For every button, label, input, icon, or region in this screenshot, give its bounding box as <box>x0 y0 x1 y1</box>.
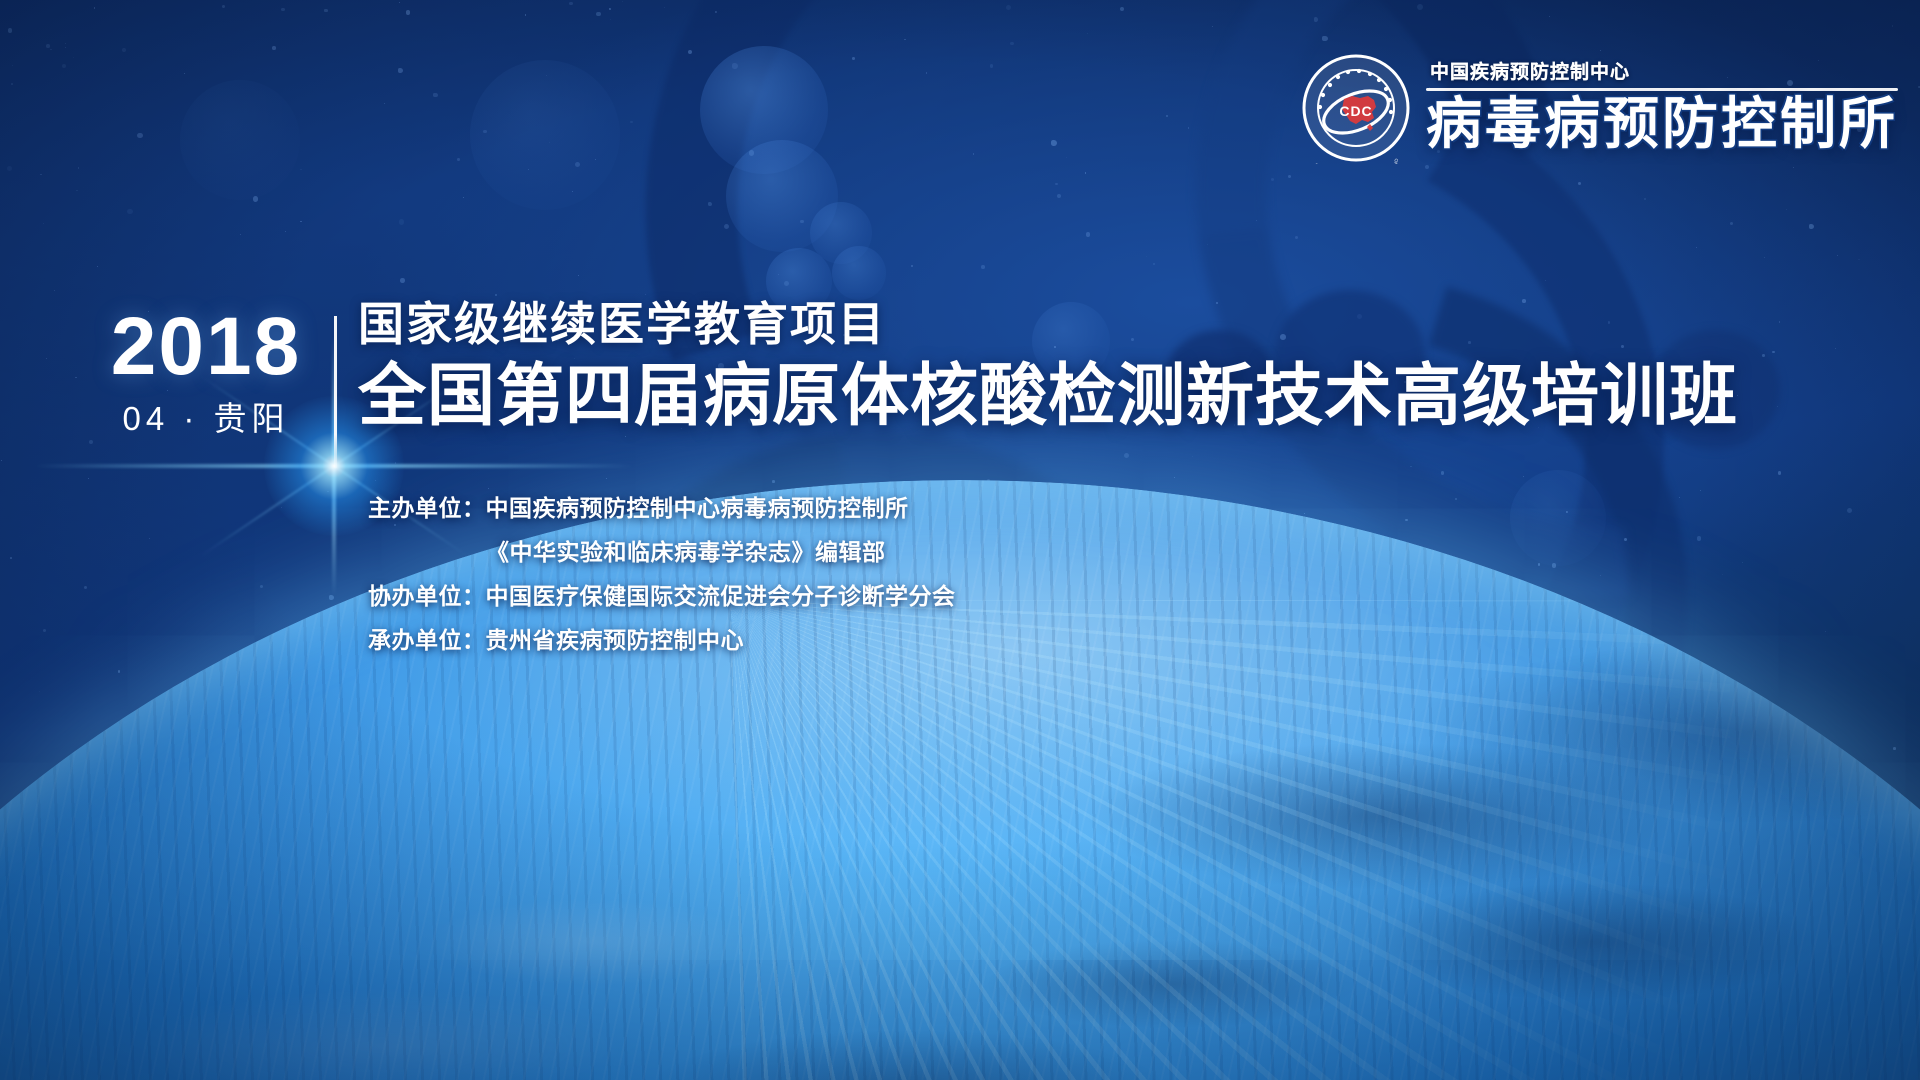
cdc-emblem-icon: CDC CHINESE CENTER FOR DISEASE CONTROL A… <box>1300 52 1412 164</box>
subtitle: 国家级继续医学教育项目 <box>358 300 1738 350</box>
year-number: 2018 <box>96 306 316 388</box>
organizer-label: 协办单位： <box>368 585 486 608</box>
vertical-divider <box>334 316 337 468</box>
conference-banner: 2018 04 · 贵阳 国家级继续医学教育项目 全国第四届病原体核酸检测新技术… <box>0 0 1920 1080</box>
organizer-value: 中国医疗保健国际交流促进会分子诊断学分会 <box>486 585 956 608</box>
cdc-logo: CDC CHINESE CENTER FOR DISEASE CONTROL A… <box>1300 52 1898 164</box>
logo-divider-rule <box>1426 88 1898 91</box>
title-area: 国家级继续医学教育项目 全国第四届病原体核酸检测新技术高级培训班 <box>358 300 1738 433</box>
organizer-value: 中国疾病预防控制中心病毒病预防控制所 <box>486 497 909 520</box>
logo-org-main: 病毒病预防控制所 <box>1426 93 1898 155</box>
svg-text:CDC: CDC <box>1339 103 1372 119</box>
organizer-row: 协办单位：中国医疗保健国际交流促进会分子诊断学分会 <box>368 585 956 608</box>
logo-org-top: 中国疾病预防控制中心 <box>1426 62 1898 84</box>
organizer-label: 主办单位： <box>368 497 486 520</box>
organizer-value: 贵州省疾病预防控制中心 <box>486 629 745 652</box>
organizer-row: 《中华实验和临床病毒学杂志》编辑部 <box>368 541 956 564</box>
page-title: 全国第四届病原体核酸检测新技术高级培训班 <box>358 360 1738 433</box>
month-city-label: 04 · 贵阳 <box>96 402 316 435</box>
organizer-label: 承办单位： <box>368 629 486 652</box>
organizer-list: 主办单位：中国疾病预防控制中心病毒病预防控制所《中华实验和临床病毒学杂志》编辑部… <box>368 497 956 673</box>
organizer-value: 《中华实验和临床病毒学杂志》编辑部 <box>486 541 886 564</box>
year-block: 2018 04 · 贵阳 <box>96 306 316 435</box>
organizer-row: 主办单位：中国疾病预防控制中心病毒病预防控制所 <box>368 497 956 520</box>
logo-text-block: 中国疾病预防控制中心 病毒病预防控制所 <box>1426 62 1898 154</box>
organizer-row: 承办单位：贵州省疾病预防控制中心 <box>368 629 956 652</box>
